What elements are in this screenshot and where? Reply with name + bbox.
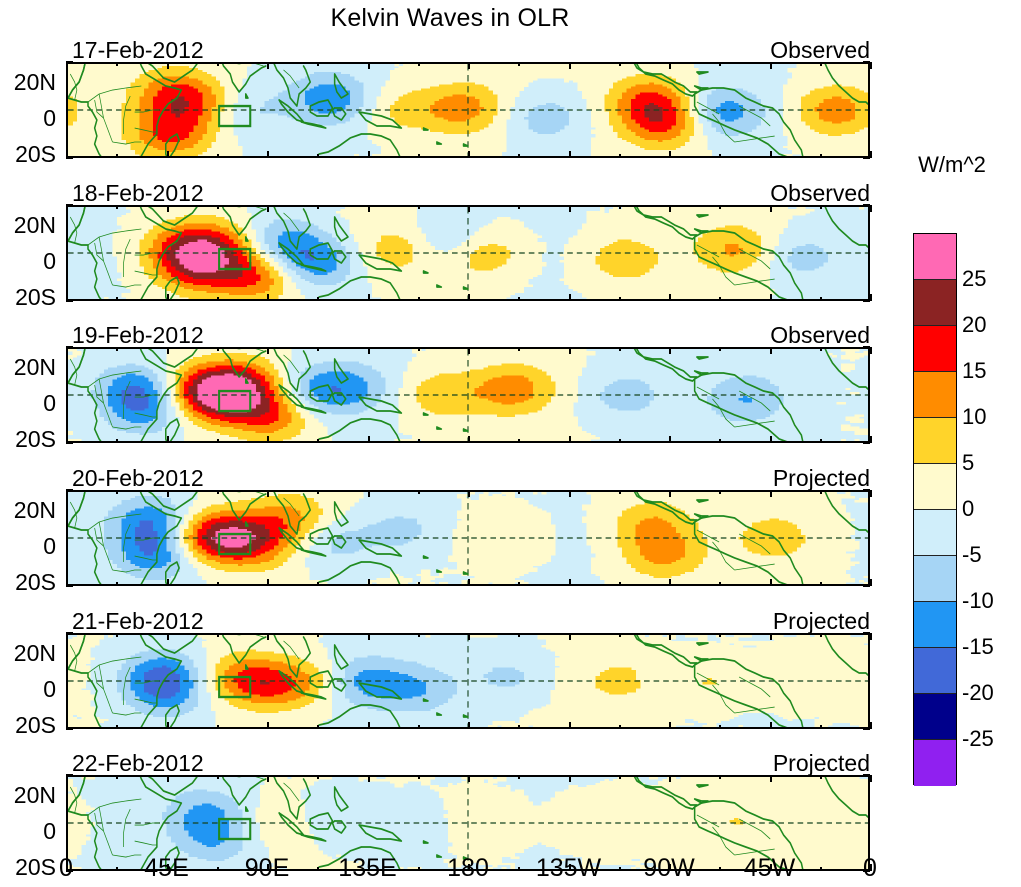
colorbar-tick-label: 25 bbox=[962, 268, 986, 290]
colorbar-tick-label: 0 bbox=[962, 498, 974, 520]
x-tick-label: 135E bbox=[338, 854, 396, 883]
panel-status-label: Observed bbox=[770, 323, 870, 347]
panel-plot-area bbox=[66, 205, 870, 301]
y-tick-label: 0 bbox=[0, 535, 56, 558]
olr-anomaly-field bbox=[68, 635, 868, 727]
x-tick-label: 90E bbox=[245, 854, 289, 883]
colorbar-band bbox=[914, 602, 956, 648]
colorbar-tick-label: -5 bbox=[962, 544, 982, 566]
olr-anomaly-field bbox=[68, 64, 868, 156]
panel-date-label: 18-Feb-2012 bbox=[72, 181, 204, 205]
colorbar-tick-labels: 2520151050-5-10-15-20-25 bbox=[962, 233, 1020, 785]
map-panel: 17-Feb-2012Observed20N020S bbox=[0, 40, 900, 158]
y-tick-label: 0 bbox=[0, 820, 56, 843]
colorbar-tick-label: 10 bbox=[962, 406, 986, 428]
colorbar-band bbox=[914, 648, 956, 694]
y-tick-label: 0 bbox=[0, 678, 56, 701]
panel-status-label: Observed bbox=[770, 181, 870, 205]
colorbar-tick-label: -15 bbox=[962, 636, 994, 658]
colorbar-tick-label: -10 bbox=[962, 590, 994, 612]
colorbar-band bbox=[914, 556, 956, 602]
map-panel: 19-Feb-2012Observed20N020S bbox=[0, 325, 900, 443]
panel-status-label: Observed bbox=[770, 38, 870, 62]
colorbar-tick-label: -25 bbox=[962, 728, 994, 750]
y-tick-label: 20N bbox=[0, 214, 56, 237]
colorbar-band bbox=[914, 234, 956, 280]
colorbar-band bbox=[914, 740, 956, 786]
panel-status-label: Projected bbox=[773, 609, 870, 633]
panel-plot-area bbox=[66, 633, 870, 729]
colorbar-band bbox=[914, 418, 956, 464]
panel-date-label: 22-Feb-2012 bbox=[72, 751, 204, 775]
olr-anomaly-field bbox=[68, 349, 868, 441]
panel-plot-area bbox=[66, 347, 870, 443]
colorbar-tick-label: 20 bbox=[962, 314, 986, 336]
x-tick-label: 0 bbox=[863, 854, 877, 883]
y-tick-label: 20N bbox=[0, 71, 56, 94]
panel-date-label: 17-Feb-2012 bbox=[72, 38, 204, 62]
y-tick-label: 20S bbox=[0, 856, 56, 879]
x-axis: 045E90E135E180135W90W45W0 bbox=[66, 840, 870, 886]
y-tick-label: 20S bbox=[0, 428, 56, 451]
y-tick-label: 20N bbox=[0, 499, 56, 522]
colorbar-tick-label: 5 bbox=[962, 452, 974, 474]
x-tick-label: 135W bbox=[536, 854, 601, 883]
map-panel: 21-Feb-2012Projected20N020S bbox=[0, 611, 900, 729]
y-tick-label: 20S bbox=[0, 286, 56, 309]
colorbar bbox=[913, 233, 957, 785]
y-tick-label: 20S bbox=[0, 143, 56, 166]
colorbar-band bbox=[914, 280, 956, 326]
y-tick-label: 20S bbox=[0, 714, 56, 737]
x-tick-label: 0 bbox=[59, 854, 73, 883]
y-tick-label: 0 bbox=[0, 107, 56, 130]
x-tick-label: 90W bbox=[643, 854, 694, 883]
colorbar-band bbox=[914, 326, 956, 372]
y-tick-label: 20N bbox=[0, 642, 56, 665]
panel-date-label: 19-Feb-2012 bbox=[72, 323, 204, 347]
colorbar-tick-label: 15 bbox=[962, 360, 986, 382]
colorbar-band bbox=[914, 510, 956, 556]
y-tick-label: 0 bbox=[0, 250, 56, 273]
map-panel: 18-Feb-2012Observed20N020S bbox=[0, 183, 900, 301]
olr-anomaly-field bbox=[68, 207, 868, 299]
panel-date-label: 20-Feb-2012 bbox=[72, 466, 204, 490]
panel-plot-area bbox=[66, 62, 870, 158]
map-panel: 20-Feb-2012Projected20N020S bbox=[0, 468, 900, 586]
x-tick-label: 180 bbox=[447, 854, 489, 883]
y-tick-label: 20S bbox=[0, 571, 56, 594]
y-tick-label: 20N bbox=[0, 356, 56, 379]
page-title: Kelvin Waves in OLR bbox=[0, 4, 900, 33]
y-tick-label: 20N bbox=[0, 784, 56, 807]
colorbar-tick-label: -20 bbox=[962, 682, 994, 704]
x-tick-label: 45W bbox=[744, 854, 795, 883]
y-tick-label: 0 bbox=[0, 392, 56, 415]
x-tick-label: 45E bbox=[144, 854, 188, 883]
colorbar-band bbox=[914, 372, 956, 418]
colorbar-band bbox=[914, 694, 956, 740]
panel-status-label: Projected bbox=[773, 751, 870, 775]
panel-date-label: 21-Feb-2012 bbox=[72, 609, 204, 633]
colorbar-band bbox=[914, 464, 956, 510]
colorbar-unit-label: W/m^2 bbox=[893, 152, 1011, 178]
panel-plot-area bbox=[66, 490, 870, 586]
olr-anomaly-field bbox=[68, 492, 868, 584]
panel-status-label: Projected bbox=[773, 466, 870, 490]
